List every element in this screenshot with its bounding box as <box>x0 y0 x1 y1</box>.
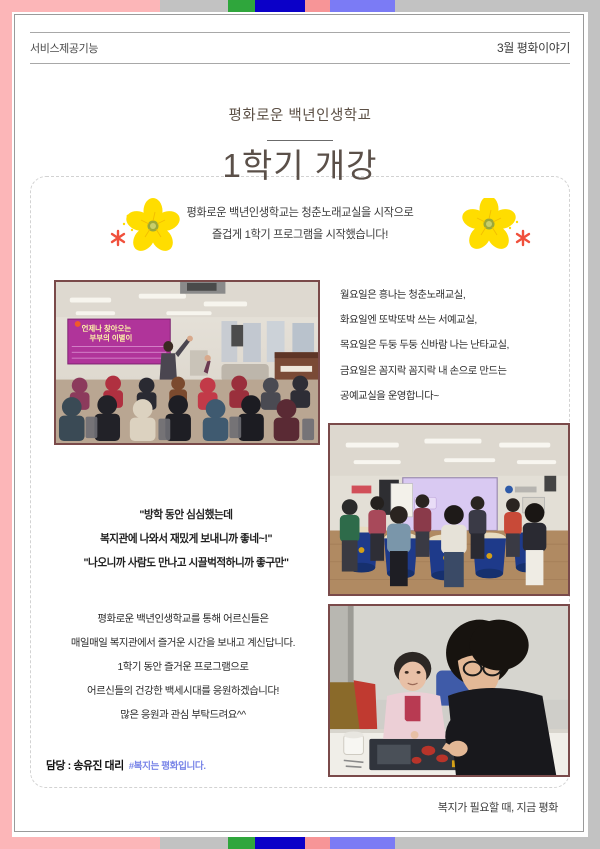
schedule-line-3: 목요일은 두둥 두둥 신바람 나는 난타교실, <box>340 333 572 358</box>
closing-paragraph: 평화로운 백년인생학교를 통해 어르신들은 매일매일 복지관에서 즐거운 시간을… <box>42 608 324 728</box>
schedule-line-5: 공예교실을 운영합니다~ <box>340 384 572 409</box>
footer-tagline: 복지가 필요할 때, 지금 평화 <box>0 799 558 815</box>
bottom-color-bar <box>0 837 600 849</box>
svg-text:언제나 찾아오는: 언제나 찾아오는 <box>82 324 132 333</box>
quote-block: "방학 동안 심심했는데 복지관에 나와서 재밌게 보내니까 좋네~!" "나오… <box>48 504 324 575</box>
color-segment-pink <box>0 0 160 12</box>
svg-text:부부의 이별이: 부부의 이별이 <box>89 334 132 343</box>
quote-line-1: "방학 동안 심심했는데 <box>48 504 324 528</box>
schedule-line-2: 화요일엔 또박또박 쓰는 서예교실, <box>340 308 572 333</box>
header-right-label: 3월 평화이야기 <box>497 39 570 56</box>
contact-line: 담당 : 송유진 대리#복지는 평화입니다. <box>46 757 206 773</box>
color-segment-periwinkle <box>330 0 395 12</box>
closing-line-2: 매일매일 복지관에서 즐거운 시간을 보내고 계신답니다. <box>42 632 324 656</box>
photo-singing-class: 언제나 찾아오는 부부의 이별이 <box>54 280 320 445</box>
title-block: 평화로운 백년인생학교 1학기 개강 <box>0 104 600 185</box>
color-segment-gray <box>160 0 228 12</box>
closing-line-3: 1학기 동안 즐거운 프로그램으로 <box>42 656 324 680</box>
intro-line-2: 즐겁게 1학기 프로그램을 시작했습니다! <box>150 224 450 246</box>
schedule-list: 월요일은 흥나는 청춘노래교실, 화요일엔 또박또박 쓰는 서예교실, 목요일은… <box>340 283 572 409</box>
header-left-label: 서비스제공기능 <box>30 40 98 56</box>
document-header: 서비스제공기능 3월 평화이야기 <box>30 32 570 64</box>
intro-line-1: 평화로운 백년인생학교는 청춘노래교실을 시작으로 <box>150 202 450 224</box>
color-segment-green <box>228 0 255 12</box>
schedule-line-4: 금요일은 꼼지락 꼼지락 내 손으로 만드는 <box>340 359 572 384</box>
quote-line-3: "나오니까 사람도 만나고 시끌벅적하니까 좋구만" <box>48 552 324 576</box>
color-segment-gray <box>160 837 228 849</box>
color-segment-gray2 <box>395 0 600 12</box>
top-color-bar <box>0 0 600 12</box>
color-segment-pink <box>0 837 160 849</box>
closing-line-5: 많은 응원과 관심 부탁드려요^^ <box>42 704 324 728</box>
closing-line-1: 평화로운 백년인생학교를 통해 어르신들은 <box>42 608 324 632</box>
contact-hashtag: #복지는 평화입니다. <box>129 761 206 772</box>
contact-label: 담당 : 송유진 대리 <box>46 760 124 772</box>
quote-line-2: 복지관에 나와서 재밌게 보내니까 좋네~!" <box>48 528 324 552</box>
closing-line-4: 어르신들의 건강한 백세시대를 응원하겠습니다! <box>42 680 324 704</box>
photo-craft-class <box>328 604 570 777</box>
color-segment-gray2 <box>395 837 600 849</box>
color-segment-green <box>228 837 255 849</box>
color-segment-salmon <box>305 0 330 12</box>
color-segment-blue <box>255 837 305 849</box>
intro-row: 평화로운 백년인생학교는 청춘노래교실을 시작으로 즐겁게 1학기 프로그램을 … <box>30 196 570 264</box>
color-segment-periwinkle <box>330 837 395 849</box>
schedule-line-1: 월요일은 흥나는 청춘노래교실, <box>340 283 572 308</box>
title-divider-rule <box>267 140 333 141</box>
color-segment-blue <box>255 0 305 12</box>
eyebrow-title: 평화로운 백년인생학교 <box>0 104 600 125</box>
page-title: 1학기 개강 <box>0 147 600 185</box>
flower-icon-right <box>458 198 520 259</box>
photo-drum-class <box>328 423 570 596</box>
color-segment-salmon <box>305 837 330 849</box>
intro-lead-text: 평화로운 백년인생학교는 청춘노래교실을 시작으로 즐겁게 1학기 프로그램을 … <box>150 202 450 247</box>
